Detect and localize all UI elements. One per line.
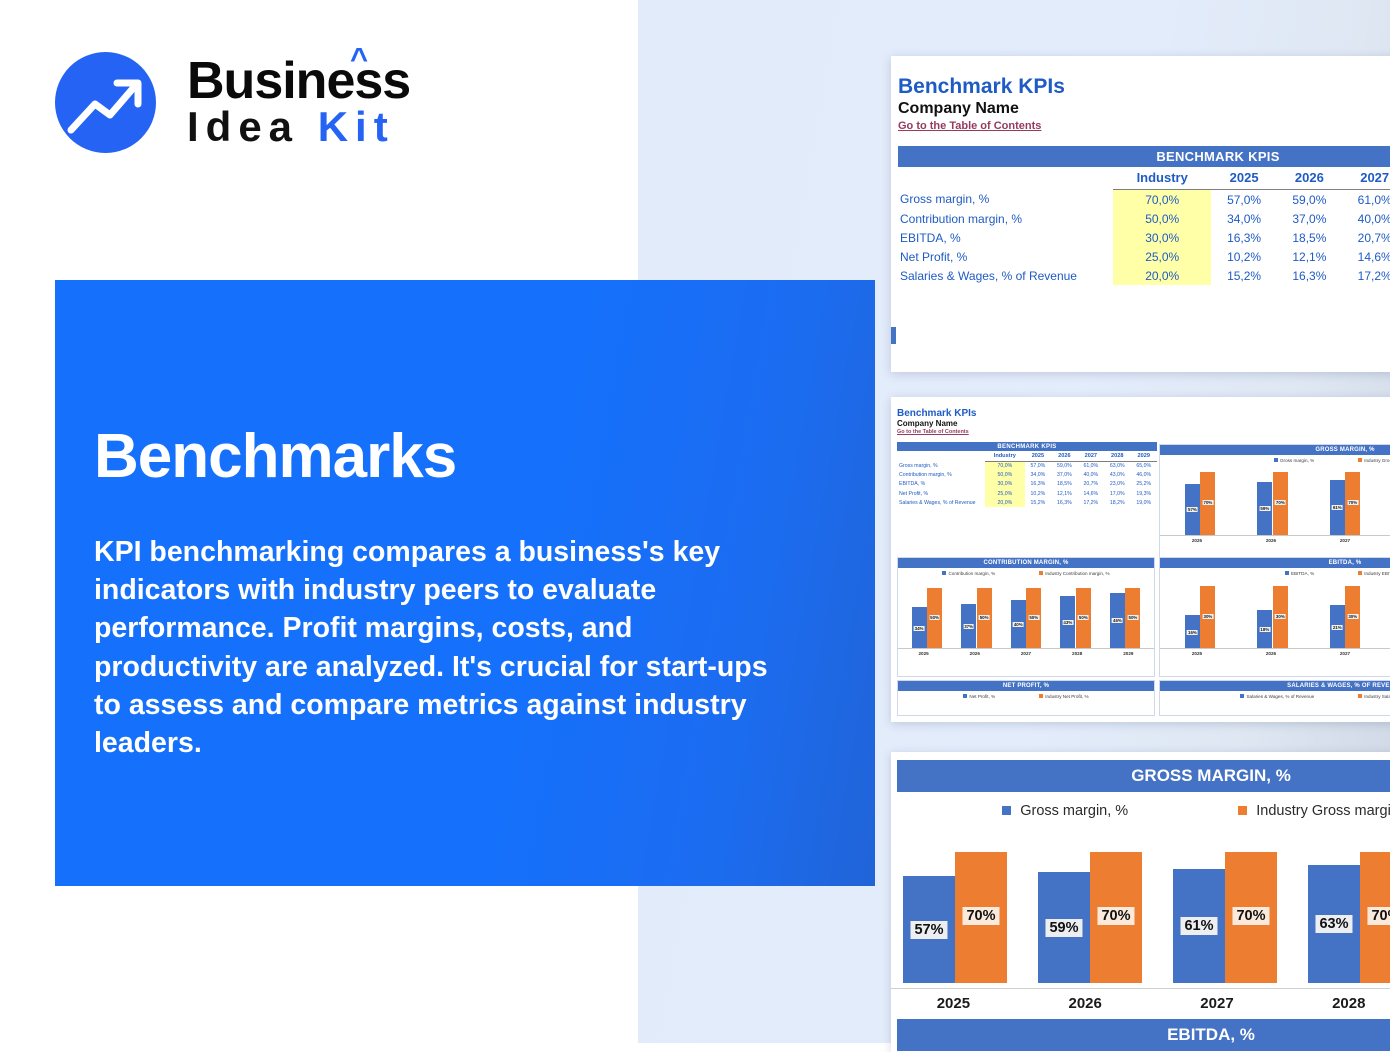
bar[interactable]: 50%	[1026, 588, 1041, 648]
legend-item[interactable]: Salaries & Wages, % of Revenue	[1240, 694, 1314, 699]
legend-swatch	[1039, 571, 1043, 575]
chart-salaries-wages-mini[interactable]: SALARIES & WAGES, % OF REVENUESalaries &…	[1159, 680, 1390, 716]
sheet-title: Benchmark KPIs	[898, 75, 1390, 99]
year-value: 20,7%	[1078, 480, 1104, 489]
row-label: Contribution margin, %	[898, 209, 1113, 228]
column-header: 2027	[1078, 451, 1104, 461]
year-value: 16,3%	[1051, 498, 1077, 507]
year-value: 15,2%	[1211, 266, 1276, 285]
legend-swatch	[1358, 694, 1362, 698]
bar-group: 43%50%	[1057, 588, 1095, 648]
bar[interactable]: 70%	[1273, 472, 1288, 535]
bar[interactable]: 16%	[1185, 615, 1200, 649]
column-header: 2027	[1342, 167, 1390, 190]
industry-value: 20,0%	[1113, 266, 1211, 285]
industry-value: 25,0%	[985, 489, 1025, 498]
bar-value-label: 40%	[1013, 622, 1024, 627]
bar[interactable]: 50%	[1125, 588, 1140, 648]
table-row: Net Profit, %25,0%10,2%12,1%14,6%17,0%19…	[898, 247, 1390, 266]
column-header: 2026	[1051, 451, 1077, 461]
table-row: Contribution margin, %50,0%34,0%37,0%40,…	[898, 209, 1390, 228]
legend-swatch	[1240, 694, 1244, 698]
row-label: Salaries & Wages, % of Revenue	[897, 498, 985, 507]
bar-value-label: 34%	[914, 626, 925, 631]
bar[interactable]: 70%	[1200, 472, 1215, 535]
logo-word-business: Business ^	[187, 54, 410, 109]
bar-value-label: 61%	[1180, 917, 1217, 935]
table-of-contents-link-mini[interactable]: Go to the Table of Contents	[897, 429, 1390, 435]
logo-circumflex-icon: ^	[350, 43, 367, 74]
year-value: 12,1%	[1277, 247, 1342, 266]
bar-value-label: 70%	[1347, 500, 1358, 505]
chart-plot-area: 34%50%37%50%40%50%43%50%46%50%	[898, 576, 1154, 648]
chart-x-axis: 20252026202720282029	[1160, 535, 1390, 543]
sheet-company-name: Company Name	[898, 100, 1390, 118]
bar-value-label: 70%	[1203, 500, 1214, 505]
year-value: 18,2%	[1104, 498, 1130, 507]
bar[interactable]: 50%	[927, 588, 942, 648]
bar[interactable]: 50%	[1076, 588, 1091, 648]
chart-title: CONTRIBUTION MARGIN, %	[898, 558, 1154, 568]
table-banner-row: BENCHMARK KPIS	[897, 442, 1157, 451]
bar[interactable]: 37%	[961, 604, 976, 648]
bar-value-label: 50%	[979, 615, 990, 620]
year-value: 40,0%	[1342, 209, 1390, 228]
legend-swatch	[942, 571, 946, 575]
chart-title: NET PROFIT, %	[898, 681, 1154, 691]
legend-swatch	[1358, 458, 1362, 462]
x-tick-label: 2027	[1167, 995, 1268, 1012]
year-value: 10,2%	[1025, 489, 1051, 498]
bar-group: 16%30%	[1181, 586, 1219, 648]
bar-value-label: 37%	[963, 624, 974, 629]
bar-group: 37%50%	[957, 588, 995, 648]
year-value: 40,0%	[1078, 471, 1104, 480]
year-value: 63,0%	[1104, 461, 1130, 471]
table-row: Net Profit, %25,0%10,2%12,1%14,6%17,0%19…	[897, 489, 1157, 498]
industry-value: 70,0%	[985, 461, 1025, 471]
bar-value-label: 50%	[1078, 615, 1089, 620]
row-label: Contribution margin, %	[897, 471, 985, 480]
chart-title: SALARIES & WAGES, % OF REVENUE	[1160, 681, 1390, 691]
bar[interactable]: 40%	[1011, 600, 1026, 648]
bar-value-label: 70%	[1275, 500, 1286, 505]
chart-legend: Contribution margin, %Industry Contribut…	[898, 568, 1154, 576]
bar-group: 59%70%	[1254, 472, 1292, 535]
bar-value-label: 21%	[1332, 625, 1343, 630]
bar-value-label: 57%	[1187, 507, 1198, 512]
x-tick-label: 2025	[1178, 651, 1216, 656]
industry-value: 50,0%	[985, 471, 1025, 480]
table-banner-cell: BENCHMARK KPIS	[898, 146, 1390, 167]
year-value: 17,2%	[1078, 498, 1104, 507]
column-header: 2028	[1104, 451, 1130, 461]
row-label: Gross margin, %	[897, 461, 985, 471]
bar-value-label: 63%	[1315, 915, 1352, 933]
x-tick-label: 2026	[956, 651, 994, 656]
bar-value-label: 70%	[1097, 907, 1134, 925]
year-value: 18,5%	[1051, 480, 1077, 489]
chart-legend: EBITDA, %Industry EBITDA, %	[1160, 568, 1390, 576]
logo-word-idea-kit: Idea Kit	[187, 105, 410, 149]
industry-value: 30,0%	[985, 480, 1025, 489]
year-value: 65,0%	[1131, 461, 1158, 471]
year-value: 37,0%	[1277, 209, 1342, 228]
x-tick-label: 2029	[1109, 651, 1147, 656]
legend-swatch	[1358, 571, 1362, 575]
x-tick-label: 2025	[905, 651, 943, 656]
bar-value-label: 70%	[962, 907, 999, 925]
bar[interactable]: 70%	[1360, 852, 1390, 983]
bar-value-label: 30%	[1203, 614, 1214, 619]
chart-legend: Net Profit, %Industry Net Profit, %	[898, 691, 1154, 699]
year-value: 17,0%	[1104, 489, 1130, 498]
bar[interactable]: 70%	[1090, 852, 1142, 983]
bar-group: 18%30%	[1254, 586, 1292, 648]
table-row: Gross margin, %70,0%57,0%59,0%61,0%63,0%…	[898, 190, 1390, 210]
year-value: 59,0%	[1277, 190, 1342, 210]
year-value: 57,0%	[1025, 461, 1051, 471]
x-tick-label: 2026	[1252, 651, 1290, 656]
bar-group: 46%50%	[1106, 588, 1144, 648]
year-value: 34,0%	[1025, 471, 1051, 480]
table-row: Gross margin, %70,0%57,0%59,0%61,0%63,0%…	[897, 461, 1157, 471]
year-value: 16,3%	[1211, 228, 1276, 247]
bar-group: 34%50%	[908, 588, 946, 648]
x-tick-label: 2025	[903, 995, 1004, 1012]
bar-value-label: 30%	[1275, 614, 1286, 619]
column-header: 2025	[1211, 167, 1276, 190]
bar[interactable]: 43%	[1060, 596, 1075, 648]
bar[interactable]: 70%	[1345, 472, 1360, 535]
legend-label-company: Gross margin, %	[1020, 803, 1128, 819]
legend-swatch	[1039, 694, 1043, 698]
bar-value-label: 43%	[1062, 620, 1073, 625]
column-header: Industry	[985, 451, 1025, 461]
year-value: 14,6%	[1078, 489, 1104, 498]
logo-business-text: Business	[187, 52, 410, 110]
benchmark-kpi-table: BENCHMARK KPISIndustry202520262027202820…	[898, 146, 1390, 285]
table-banner-row: BENCHMARK KPIS	[898, 146, 1390, 167]
bar[interactable]: 34%	[912, 607, 927, 648]
year-value: 10,2%	[1211, 247, 1276, 266]
row-marker-bar	[891, 327, 896, 344]
chart-title-ebitda: EBITDA, %	[897, 1019, 1390, 1051]
bar-value-label: 50%	[929, 615, 940, 620]
year-value: 59,0%	[1051, 461, 1077, 471]
bar[interactable]: 59%	[1257, 482, 1272, 535]
year-value: 25,2%	[1131, 480, 1158, 489]
sheet-company-name-mini: Company Name	[897, 419, 1390, 428]
hero-description: KPI benchmarking compares a business's k…	[94, 533, 774, 762]
bar-value-label: 50%	[1128, 615, 1139, 620]
bar-group: 57%70%	[903, 852, 1007, 983]
x-tick-label: 2027	[1326, 538, 1364, 543]
chart-plot-area-gross-margin: 57%70%59%70%61%70%63%70%65%70%	[891, 833, 1390, 983]
bar-group: 63%70%	[1308, 852, 1390, 983]
year-value: 16,3%	[1025, 480, 1051, 489]
industry-value: 50,0%	[1113, 209, 1211, 228]
row-label: Net Profit, %	[898, 247, 1113, 266]
hero-content: Benchmarks KPI benchmarking compares a b…	[94, 424, 774, 762]
chart-title: EBITDA, %	[1160, 558, 1390, 568]
sheet-title-mini: Benchmark KPIs	[897, 408, 1390, 419]
year-value: 19,3%	[1131, 489, 1158, 498]
bar-value-label: 50%	[1028, 615, 1039, 620]
chart-net-profit-mini[interactable]: NET PROFIT, %Net Profit, %Industry Net P…	[897, 680, 1155, 716]
year-value: 12,1%	[1051, 489, 1077, 498]
year-value: 46,0%	[1131, 471, 1158, 480]
bar-value-label: 61%	[1332, 505, 1343, 510]
chart-x-axis: 20252026202720282029	[898, 648, 1154, 656]
industry-value: 70,0%	[1113, 190, 1211, 210]
year-value: 61,0%	[1342, 190, 1390, 210]
year-value: 15,2%	[1025, 498, 1051, 507]
bar[interactable]: 61%	[1173, 869, 1225, 983]
brand-logo: Business ^ Idea Kit	[55, 48, 455, 168]
year-value: 57,0%	[1211, 190, 1276, 210]
bar-group: 21%30%	[1326, 586, 1364, 648]
chart-legend-gross-margin: Gross margin, % Industry Gross margin, %	[891, 792, 1390, 819]
bar[interactable]: 59%	[1038, 872, 1090, 983]
bar-group: 61%70%	[1173, 852, 1277, 983]
bar[interactable]: 70%	[1225, 852, 1277, 983]
page-title: Benchmarks	[94, 424, 774, 489]
bar[interactable]: 46%	[1110, 593, 1125, 648]
bar[interactable]: 18%	[1257, 610, 1272, 648]
bar-value-label: 46%	[1112, 618, 1123, 623]
chart-gross-margin-mini[interactable]: GROSS MARGIN, %Gross margin, %Industry G…	[1159, 444, 1390, 564]
bar[interactable]: 57%	[903, 876, 955, 983]
spreadsheet-card-top[interactable]: Benchmark KPIs Company Name Go to the Ta…	[891, 56, 1390, 372]
x-tick-label: 2028	[1058, 651, 1096, 656]
year-value: 20,7%	[1342, 228, 1390, 247]
row-label: Net Profit, %	[897, 489, 985, 498]
chart-legend: Salaries & Wages, % of RevenueIndustry S…	[1160, 691, 1390, 699]
industry-value: 25,0%	[1113, 247, 1211, 266]
bar[interactable]: 21%	[1330, 605, 1345, 648]
bar[interactable]: 30%	[1273, 586, 1288, 648]
bar[interactable]: 50%	[977, 588, 992, 648]
chart-x-axis: 20252026202720282029	[1160, 648, 1390, 656]
legend-item[interactable]: Industry Salaries & Wages, % of Revenue	[1358, 694, 1390, 699]
legend-item[interactable]: Net Profit, %	[963, 694, 995, 699]
bar-group: 57%70%	[1181, 472, 1219, 535]
bar-group: 61%70%	[1326, 472, 1364, 535]
table-row: EBITDA, %30,0%16,3%18,5%20,7%23,0%25,2%	[897, 480, 1157, 489]
legend-swatch	[963, 694, 967, 698]
column-header	[898, 167, 1113, 190]
table-row: Salaries & Wages, % of Revenue20,0%15,2%…	[897, 498, 1157, 507]
year-value: 19,0%	[1131, 498, 1158, 507]
legend-swatch	[1274, 458, 1278, 462]
column-header: 2025	[1025, 451, 1051, 461]
bar[interactable]: 61%	[1330, 480, 1345, 535]
bar-value-label: 59%	[1259, 506, 1270, 511]
legend-label-industry: Industry Gross margin, %	[1256, 803, 1390, 819]
bar-value-label: 18%	[1259, 627, 1270, 632]
bar-value-label: 30%	[1347, 614, 1358, 619]
row-label: EBITDA, %	[897, 480, 985, 489]
year-value: 37,0%	[1051, 471, 1077, 480]
bar-value-label: 59%	[1045, 919, 1082, 937]
bar-group: 59%70%	[1038, 852, 1142, 983]
year-value: 18,5%	[1277, 228, 1342, 247]
row-label: EBITDA, %	[898, 228, 1113, 247]
bar-group: 40%50%	[1007, 588, 1045, 648]
x-tick-label: 2027	[1326, 651, 1364, 656]
industry-value: 20,0%	[985, 498, 1025, 507]
bar[interactable]: 57%	[1185, 484, 1200, 535]
column-header: 2026	[1277, 167, 1342, 190]
chart-title-gross-margin: GROSS MARGIN, %	[897, 760, 1390, 792]
column-header	[897, 451, 985, 461]
bar[interactable]: 30%	[1345, 586, 1360, 648]
row-label: Gross margin, %	[898, 190, 1113, 210]
bar-value-label: 70%	[1232, 907, 1269, 925]
year-value: 17,2%	[1342, 266, 1390, 285]
chart-contribution-margin-mini[interactable]: CONTRIBUTION MARGIN, %Contribution margi…	[897, 557, 1155, 677]
table-row: EBITDA, %30,0%16,3%18,5%20,7%23,0%25,2%	[898, 228, 1390, 247]
bar-value-label: 57%	[910, 921, 947, 939]
x-tick-label: 2028	[1298, 995, 1390, 1012]
year-value: 43,0%	[1104, 471, 1130, 480]
bar[interactable]: 70%	[955, 852, 1007, 983]
year-value: 23,0%	[1104, 480, 1130, 489]
bar[interactable]: 63%	[1308, 865, 1360, 983]
industry-value: 30,0%	[1113, 228, 1211, 247]
row-label: Salaries & Wages, % of Revenue	[898, 266, 1113, 285]
chart-card-bottom[interactable]: GROSS MARGIN, % Gross margin, % Industry…	[891, 752, 1390, 1052]
benchmark-kpi-table-mini: BENCHMARK KPISIndustry202520262027202820…	[897, 442, 1157, 507]
chart-legend: Gross margin, %Industry Gross margin, %	[1160, 455, 1390, 463]
table-of-contents-link[interactable]: Go to the Table of Contents	[898, 120, 1390, 132]
chart-title: GROSS MARGIN, %	[1160, 445, 1390, 455]
year-value: 16,3%	[1277, 266, 1342, 285]
table-header-row: Industry20252026202720282029	[897, 451, 1157, 461]
growth-arrow-icon	[55, 52, 156, 153]
x-tick-label: 2027	[1007, 651, 1045, 656]
year-value: 61,0%	[1078, 461, 1104, 471]
legend-item-industry[interactable]: Industry Gross margin, %	[1238, 803, 1390, 819]
table-row: Salaries & Wages, % of Revenue20,0%15,2%…	[898, 266, 1390, 285]
year-value: 34,0%	[1211, 209, 1276, 228]
x-tick-label: 2026	[1252, 538, 1290, 543]
x-tick-label: 2026	[1035, 995, 1136, 1012]
table-header-row: Industry20252026202720282029	[898, 167, 1390, 190]
chart-plot-area: 16%30%18%30%21%30%23%30%25%30%	[1160, 576, 1390, 648]
x-tick-label: 2025	[1178, 538, 1216, 543]
column-header: 2029	[1131, 451, 1158, 461]
table-banner-cell: BENCHMARK KPIS	[897, 442, 1157, 451]
column-header: Industry	[1113, 167, 1211, 190]
bar-value-label: 16%	[1187, 630, 1198, 635]
chart-plot-area: 57%70%59%70%61%70%63%70%65%70%	[1160, 463, 1390, 535]
legend-item[interactable]: Industry Net Profit, %	[1039, 694, 1088, 699]
legend-swatch-company	[1002, 806, 1011, 815]
legend-swatch	[1285, 571, 1289, 575]
legend-item-company[interactable]: Gross margin, %	[1002, 803, 1128, 819]
spreadsheet-card-middle[interactable]: Benchmark KPIs Company Name Go to the Ta…	[891, 397, 1390, 722]
table-row: Contribution margin, %50,0%34,0%37,0%40,…	[897, 471, 1157, 480]
chart-x-axis-gross-margin: 20252026202720282029	[891, 988, 1390, 1012]
bar[interactable]: 30%	[1200, 586, 1215, 648]
year-value: 14,6%	[1342, 247, 1390, 266]
legend-swatch-industry	[1238, 806, 1247, 815]
chart-ebitda-mini[interactable]: EBITDA, %EBITDA, %Industry EBITDA, %16%3…	[1159, 557, 1390, 677]
bar-value-label: 70%	[1367, 907, 1390, 925]
